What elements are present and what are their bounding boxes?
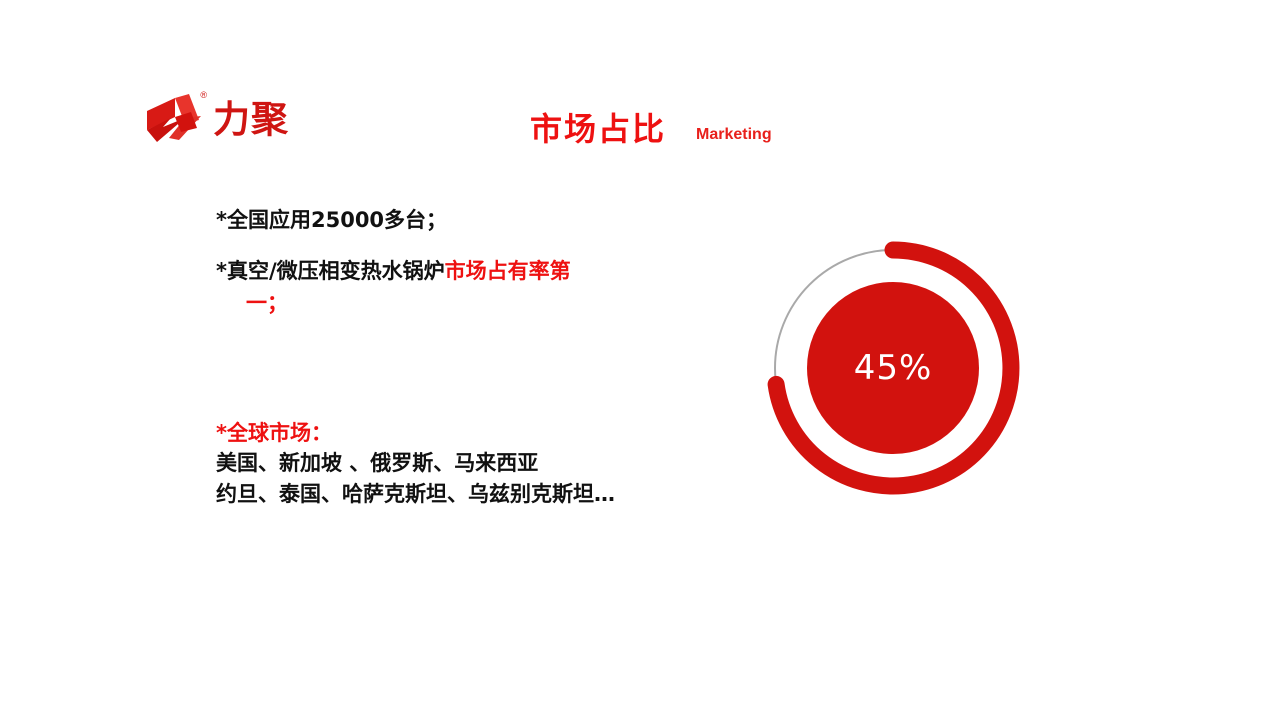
donut-center-disc <box>807 282 979 454</box>
global-market-line-2: 约旦、泰国、哈萨克斯坦、乌兹别克斯坦… <box>216 479 776 509</box>
bullet-item-1: *全国应用25000多台； <box>216 204 736 237</box>
company-logo: ® 力聚 <box>145 90 375 148</box>
body-copy: *全国应用25000多台； *真空/微压相变热水锅炉市场占有率第 一； <box>216 204 736 338</box>
page-subtitle: Marketing <box>696 126 772 148</box>
lightning-bolt-icon: ® <box>145 94 207 144</box>
market-share-donut-chart: 45% <box>767 242 1019 494</box>
global-market-heading: *全球市场： <box>216 418 776 448</box>
global-market-block: *全球市场： 美国、新加坡 、俄罗斯、马来西亚 约旦、泰国、哈萨克斯坦、乌兹别克… <box>216 418 776 509</box>
slide-canvas: ® 力聚 市场占比 Marketing *全国应用25000多台； *真空/微压… <box>0 0 1280 720</box>
bullet-2-wrapped-text: 一； <box>216 287 736 320</box>
page-title: 市场占比 <box>530 112 666 147</box>
bullet-2-highlight-text: 市场占有率第 <box>445 259 571 283</box>
global-market-line-1: 美国、新加坡 、俄罗斯、马来西亚 <box>216 448 776 478</box>
page-title-block: 市场占比 Marketing <box>530 112 772 147</box>
bullet-2-black-text: *真空/微压相变热水锅炉 <box>216 259 445 283</box>
registered-trademark-icon: ® <box>200 91 207 100</box>
bullet-item-2: *真空/微压相变热水锅炉市场占有率第 一； <box>216 255 736 320</box>
logo-brand-text: 力聚 <box>213 101 289 138</box>
